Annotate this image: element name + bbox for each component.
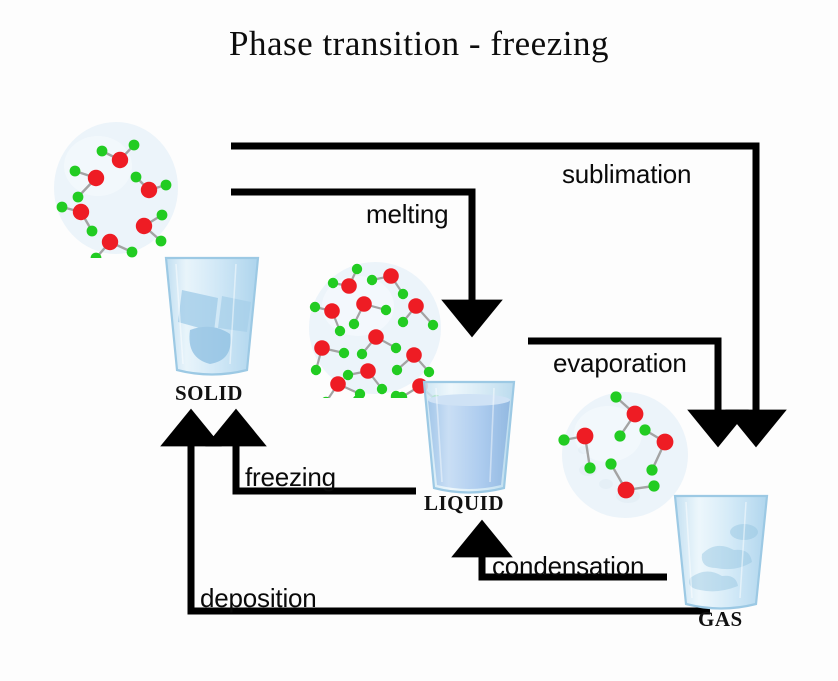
phase-transition-diagram: Phase transition - freezing bbox=[0, 0, 838, 681]
arrow-label-sublimation: sublimation bbox=[562, 159, 691, 190]
state-label-gas: GAS bbox=[698, 607, 743, 632]
container-glass-gas bbox=[662, 492, 782, 614]
container-glass-liquid bbox=[412, 378, 526, 496]
state-label-liquid: LIQUID bbox=[424, 491, 504, 516]
arrow-label-evaporation: evaporation bbox=[553, 348, 687, 379]
state-label-solid: SOLID bbox=[175, 381, 243, 406]
arrow-label-deposition: deposition bbox=[200, 583, 317, 614]
molecule-cluster-solid bbox=[48, 118, 184, 258]
arrow-label-melting: melting bbox=[366, 199, 448, 230]
molecule-cluster-liquid bbox=[304, 258, 446, 398]
arrow-label-condensation: condensation bbox=[492, 551, 644, 582]
container-glass-solid bbox=[152, 252, 272, 378]
arrow-label-freezing: freezing bbox=[245, 462, 336, 493]
